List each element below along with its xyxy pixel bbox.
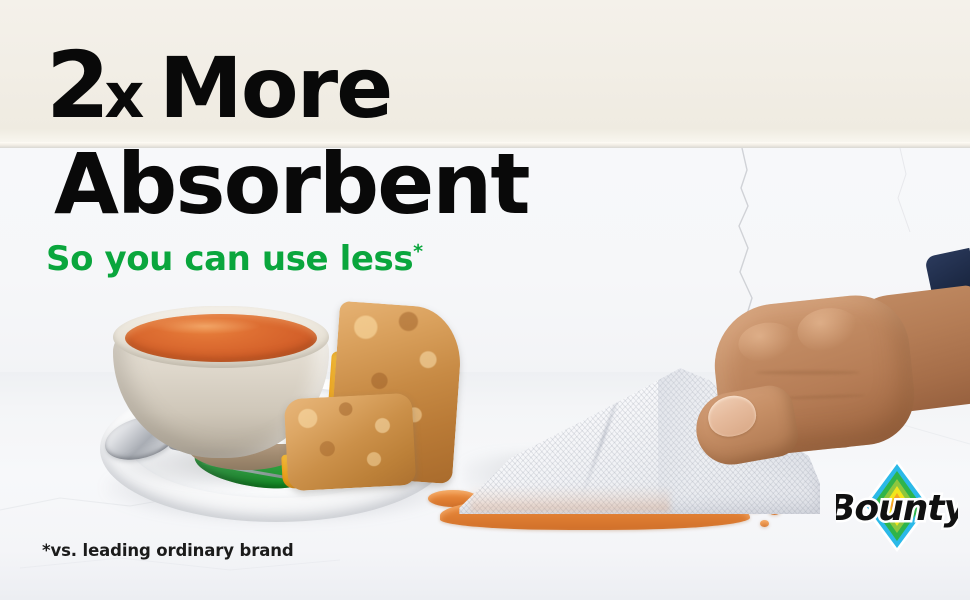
paper-towel-absorbed-stain xyxy=(470,486,670,512)
bounty-logo: Bounty xyxy=(836,458,958,554)
spill-droplet-right-3 xyxy=(760,520,769,527)
headline-line-1: 2xMore xyxy=(46,44,391,129)
advertisement-banner: 2xMore Absorbent So you can use less* *v… xyxy=(0,0,970,600)
subheadline-text: So you can use less xyxy=(46,239,413,279)
logo-wordmark: Bounty xyxy=(836,488,958,529)
headline-more: More xyxy=(159,39,391,137)
headline-x: x xyxy=(104,59,143,132)
footnote-disclaimer: *vs. leading ordinary brand xyxy=(42,541,294,560)
subheadline: So you can use less* xyxy=(46,239,423,279)
toasted-crust-texture-front xyxy=(284,393,417,492)
soup-surface-sheen xyxy=(150,318,260,334)
svg-text:Bounty: Bounty xyxy=(836,488,958,529)
bounty-logo-svg: Bounty xyxy=(836,458,958,554)
knuckle-highlight-1 xyxy=(736,320,798,366)
subheadline-asterisk: * xyxy=(413,241,423,263)
knuckle-highlight-2 xyxy=(795,305,861,355)
headline-line-2: Absorbent xyxy=(54,146,529,223)
hand-crease-1 xyxy=(756,371,860,375)
grilled-cheese-sandwich-front xyxy=(284,393,417,492)
headline-multiplier: 2 xyxy=(46,32,106,139)
